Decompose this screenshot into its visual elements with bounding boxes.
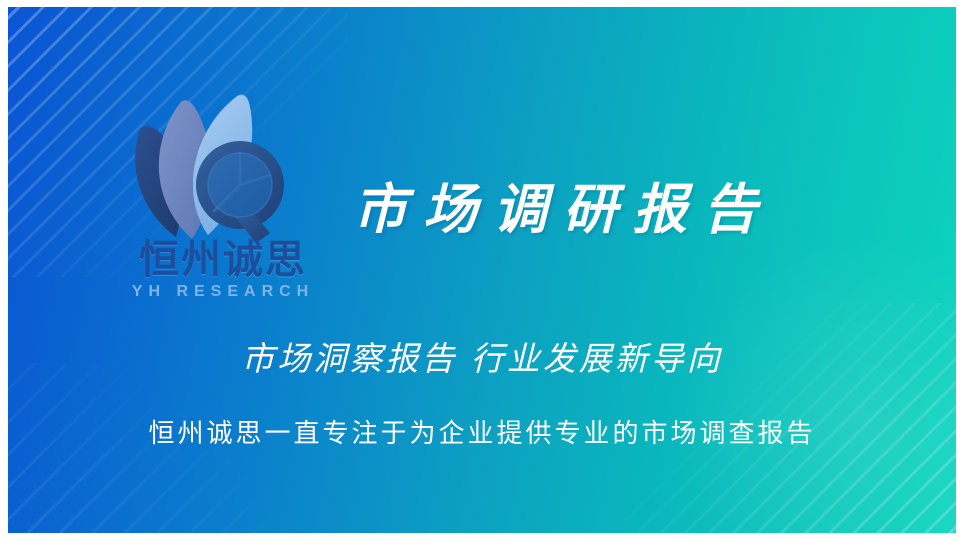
brand-name-cn: 恒州诚思 [108,239,338,281]
page-subtitle: 市场洞察报告 行业发展新导向 [8,332,956,380]
page-tagline: 恒州诚思一直专注于为企业提供专业的市场调查报告 [8,413,956,450]
report-cover-page: 恒州诚思 YH RESEARCH 市场调研报告 市场洞察报告 行业发展新导向 恒… [0,0,964,541]
lotus-petals-pie-chart-logo-icon [120,77,320,252]
cover-canvas: 恒州诚思 YH RESEARCH 市场调研报告 市场洞察报告 行业发展新导向 恒… [8,7,956,533]
brand-name-en: YH RESEARCH [108,283,338,301]
page-title: 市场调研报告 [353,165,773,244]
brand-logo: 恒州诚思 YH RESEARCH [108,77,338,307]
brand-wordmark: 恒州诚思 YH RESEARCH [108,239,338,301]
